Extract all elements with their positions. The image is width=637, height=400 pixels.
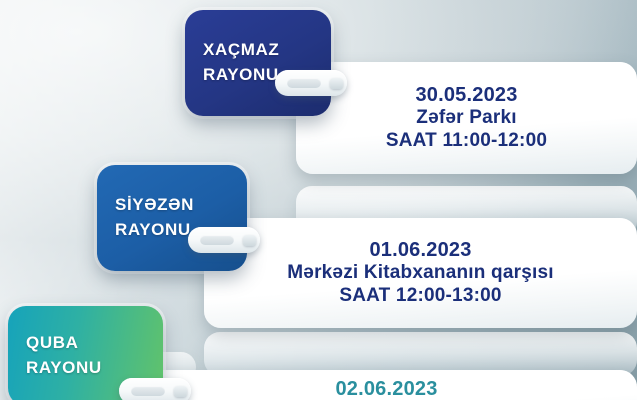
connector-dot-3 xyxy=(174,386,187,397)
event-time-1: SAAT 11:00-12:00 xyxy=(386,130,547,152)
region-tag-xacmaz[interactable]: XAÇMAZ RAYONU xyxy=(185,10,331,116)
connector-dot-1 xyxy=(330,78,343,89)
event-date-2: 01.06.2023 xyxy=(369,239,471,263)
event-card-3: 02.06.2023 xyxy=(136,370,637,400)
event-date-1: 30.05.2023 xyxy=(415,84,517,108)
event-card-1: 30.05.2023 Zəfər Parkı SAAT 11:00-12:00 xyxy=(296,62,637,174)
region-tag-siyezen-line1: SİYƏZƏN xyxy=(115,193,247,218)
region-tag-quba-line2: RAYONU xyxy=(26,356,163,381)
region-tag-quba-line1: QUBA xyxy=(26,331,163,356)
region-tag-xacmaz-line1: XAÇMAZ xyxy=(203,38,331,63)
event-date-3: 02.06.2023 xyxy=(335,378,437,400)
event-card-2: 01.06.2023 Mərkəzi Kitabxananın qarşısı … xyxy=(204,218,637,328)
event-time-2: SAAT 12:00-13:00 xyxy=(339,285,501,307)
event-place-2: Mərkəzi Kitabxananın qarşısı xyxy=(287,262,553,284)
poster-canvas: 30.05.2023 Zəfər Parkı SAAT 11:00-12:00 … xyxy=(0,0,637,400)
connector-dot-2 xyxy=(243,235,256,246)
event-place-1: Zəfər Parkı xyxy=(416,107,516,129)
region-tag-siyezen[interactable]: SİYƏZƏN RAYONU xyxy=(97,165,247,271)
